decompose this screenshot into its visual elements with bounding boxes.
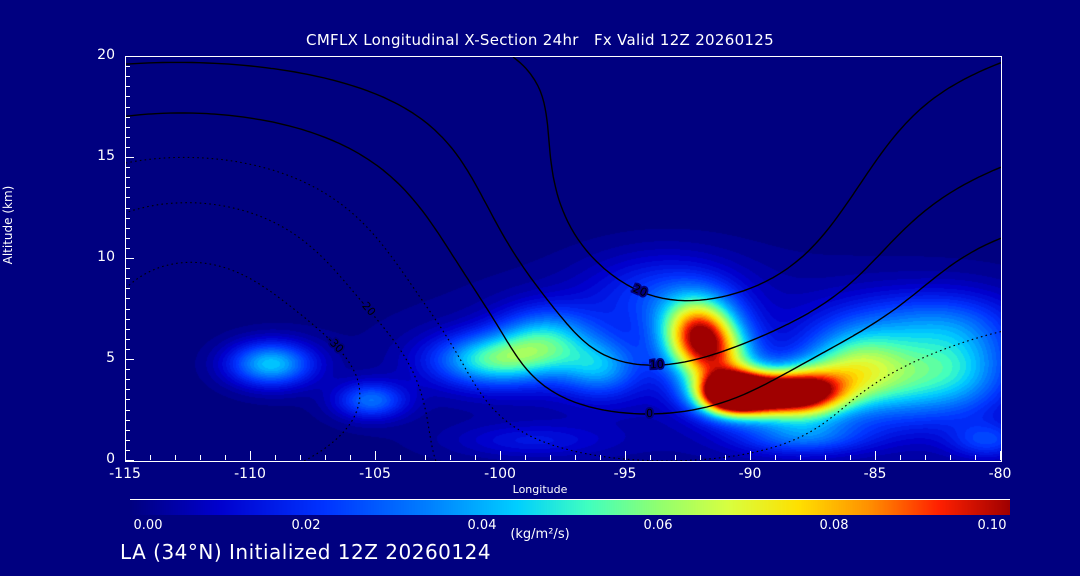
contour-label-10: 10 — [649, 358, 664, 372]
x-major-tick — [750, 451, 751, 460]
y-minor-tick — [125, 96, 130, 97]
plot-area: -30-30-20-200010102020 — [125, 56, 1002, 462]
colorbar-gradient — [130, 499, 1010, 515]
y-minor-tick — [125, 430, 130, 431]
x-minor-tick — [325, 455, 326, 460]
y-major-tick — [125, 56, 134, 57]
x-axis-label: Longitude — [0, 483, 1080, 496]
y-minor-tick — [125, 76, 130, 77]
x-major-tick — [250, 451, 251, 460]
y-tick-label: 20 — [67, 47, 115, 63]
contour-line--10 — [126, 157, 1001, 461]
y-minor-tick — [125, 298, 130, 299]
y-minor-tick — [125, 450, 130, 451]
x-minor-tick — [300, 455, 301, 460]
y-minor-tick — [125, 268, 130, 269]
contour-label--30: -30 — [324, 334, 346, 356]
x-major-tick — [375, 451, 376, 460]
y-minor-tick — [125, 177, 130, 178]
y-minor-tick — [125, 379, 130, 380]
y-minor-tick — [125, 167, 130, 168]
initialization-label: LA (34°N) Initialized 12Z 20260124 — [120, 540, 491, 564]
y-minor-tick — [125, 389, 130, 390]
contour-line-0 — [126, 113, 1001, 414]
y-major-tick — [125, 359, 134, 360]
x-minor-tick — [550, 455, 551, 460]
y-minor-tick — [125, 197, 130, 198]
y-minor-tick — [125, 86, 130, 87]
x-major-tick — [875, 451, 876, 460]
y-minor-tick — [125, 329, 130, 330]
y-minor-tick — [125, 399, 130, 400]
x-minor-tick — [525, 455, 526, 460]
x-tick-label: -110 — [220, 466, 280, 482]
x-minor-tick — [850, 455, 851, 460]
x-tick-label: -90 — [720, 466, 780, 482]
x-tick-label: -95 — [595, 466, 655, 482]
y-minor-tick — [125, 420, 130, 421]
y-minor-tick — [125, 248, 130, 249]
x-minor-tick — [425, 455, 426, 460]
y-tick-label: 0 — [67, 451, 115, 467]
contour-label-20: 20 — [631, 282, 649, 300]
colorbar — [130, 499, 1010, 515]
contour-label-0: 0 — [646, 407, 653, 420]
contour-line--20 — [126, 203, 436, 461]
y-minor-tick — [125, 218, 130, 219]
y-tick-label: 15 — [67, 148, 115, 164]
contour-label--20: -20 — [357, 296, 379, 318]
x-minor-tick — [450, 455, 451, 460]
y-major-tick — [125, 460, 134, 461]
y-minor-tick — [125, 117, 130, 118]
x-minor-tick — [600, 455, 601, 460]
y-minor-tick — [125, 228, 130, 229]
x-minor-tick — [175, 455, 176, 460]
x-minor-tick — [725, 455, 726, 460]
wind-contour-overlay: -30-30-20-200010102020 — [126, 57, 1001, 461]
y-tick-label: 10 — [67, 249, 115, 265]
y-minor-tick — [125, 137, 130, 138]
chart-title: CMFLX Longitudinal X-Section 24hr Fx Val… — [0, 31, 1080, 49]
x-tick-label: -115 — [95, 466, 155, 482]
y-tick-label: 5 — [67, 350, 115, 366]
x-minor-tick — [800, 455, 801, 460]
y-major-tick — [125, 157, 134, 158]
x-minor-tick — [225, 455, 226, 460]
y-major-tick — [125, 258, 134, 259]
y-minor-tick — [125, 288, 130, 289]
y-minor-tick — [125, 309, 130, 310]
y-minor-tick — [125, 369, 130, 370]
x-minor-tick — [575, 455, 576, 460]
y-minor-tick — [125, 208, 130, 209]
y-minor-tick — [125, 238, 130, 239]
x-minor-tick — [475, 455, 476, 460]
x-minor-tick — [400, 455, 401, 460]
x-major-tick — [625, 451, 626, 460]
x-minor-tick — [825, 455, 826, 460]
x-tick-label: -100 — [470, 466, 530, 482]
y-minor-tick — [125, 440, 130, 441]
figure-canvas: CMFLX Longitudinal X-Section 24hr Fx Val… — [0, 0, 1080, 576]
y-minor-tick — [125, 66, 130, 67]
y-minor-tick — [125, 147, 130, 148]
y-minor-tick — [125, 349, 130, 350]
y-minor-tick — [125, 187, 130, 188]
contour-line--30 — [126, 262, 360, 461]
y-minor-tick — [125, 339, 130, 340]
x-tick-label: -85 — [845, 466, 905, 482]
x-minor-tick — [925, 455, 926, 460]
x-minor-tick — [700, 455, 701, 460]
x-minor-tick — [150, 455, 151, 460]
x-minor-tick — [900, 455, 901, 460]
x-minor-tick — [775, 455, 776, 460]
y-axis-label: Altitude (km) — [1, 145, 15, 305]
y-minor-tick — [125, 319, 130, 320]
y-minor-tick — [125, 107, 130, 108]
x-minor-tick — [950, 455, 951, 460]
y-minor-tick — [125, 127, 130, 128]
y-minor-tick — [125, 410, 130, 411]
x-minor-tick — [650, 455, 651, 460]
x-major-tick — [125, 451, 126, 460]
x-major-tick — [500, 451, 501, 460]
x-major-tick — [1000, 451, 1001, 460]
x-minor-tick — [350, 455, 351, 460]
x-tick-label: -105 — [345, 466, 405, 482]
contour-line-20 — [513, 57, 1001, 301]
x-tick-label: -80 — [970, 466, 1030, 482]
x-minor-tick — [975, 455, 976, 460]
x-minor-tick — [675, 455, 676, 460]
x-minor-tick — [275, 455, 276, 460]
x-minor-tick — [200, 455, 201, 460]
y-minor-tick — [125, 278, 130, 279]
